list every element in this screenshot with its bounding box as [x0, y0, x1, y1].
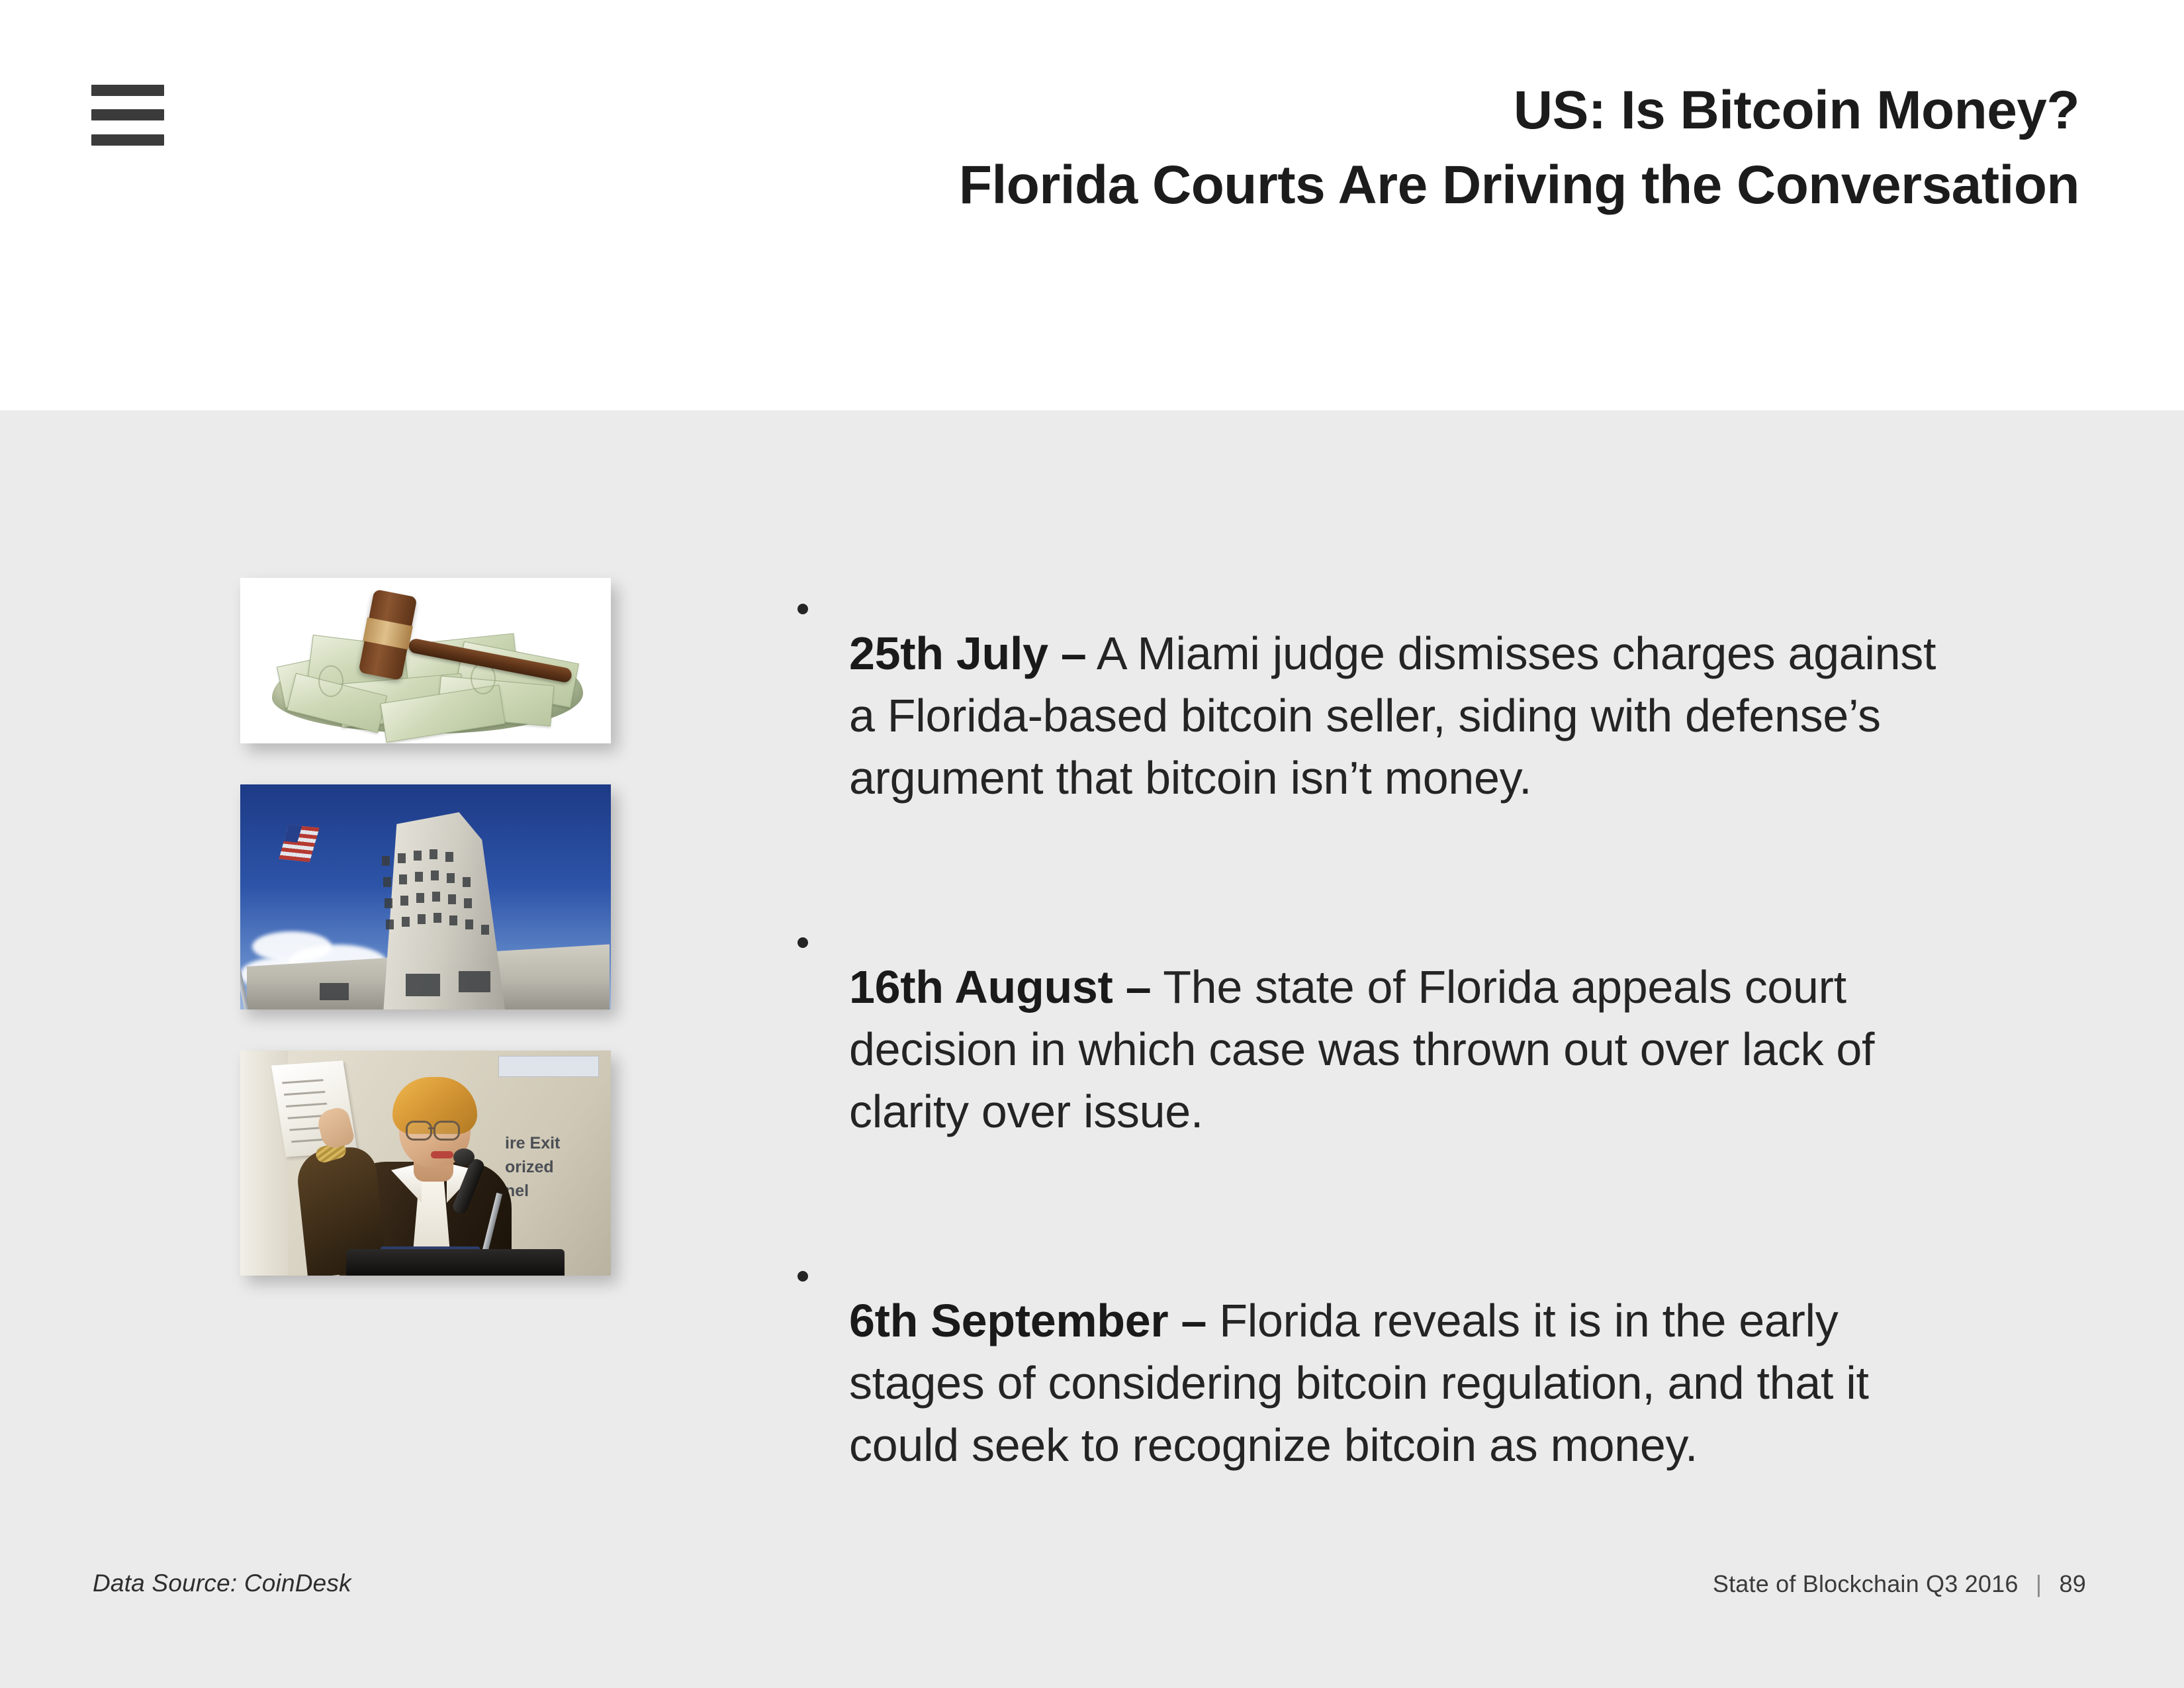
page-title-line-2: Florida Courts Are Driving the Conversat…: [623, 148, 2079, 222]
window: [382, 856, 390, 866]
eyeglass-bridge: [428, 1127, 435, 1129]
window: [398, 853, 406, 863]
american-flag: [279, 825, 319, 863]
window: [383, 877, 391, 887]
bullet-dot-icon: [797, 1271, 808, 1282]
bullet-text: 25th July – A Miami judge dismisses char…: [849, 622, 1962, 809]
lower-window: [459, 971, 490, 992]
official-at-podium-photo: ire Exit orized nel: [240, 1051, 611, 1276]
window: [447, 873, 455, 883]
image-column: ire Exit orized nel: [240, 578, 611, 1276]
list-item: 16th August – The state of Florida appea…: [797, 910, 1962, 1189]
window: [449, 915, 457, 925]
footer-report-info: State of Blockchain Q3 2016 | 89: [1713, 1569, 2086, 1599]
bullet-date-lead: 25th July –: [849, 628, 1087, 679]
timeline-bullet-list: 25th July – A Miami judge dismisses char…: [797, 576, 1962, 1523]
paper-line: [284, 1091, 326, 1096]
microphone-head: [453, 1149, 475, 1166]
window: [481, 925, 489, 935]
window: [415, 872, 423, 882]
footer-separator: |: [2036, 1569, 2042, 1599]
gavel-on-money-photo: [240, 578, 611, 743]
wall-sign-plate: [498, 1056, 599, 1077]
speaker-lips: [431, 1151, 453, 1158]
footer-report-title: State of Blockchain Q3 2016: [1713, 1570, 2019, 1597]
page-title-line-1: US: Is Bitcoin Money?: [623, 73, 2079, 148]
lower-window: [406, 974, 440, 996]
window: [445, 852, 453, 862]
hamburger-bar-top: [91, 85, 164, 96]
window: [385, 898, 392, 908]
bullet-text: 6th September – Florida reveals it is in…: [849, 1289, 1962, 1476]
wall-sign-line-1: ire Exit: [505, 1131, 604, 1155]
bullet-text: 16th August – The state of Florida appea…: [849, 956, 1962, 1143]
bullet-dot-icon: [797, 604, 808, 614]
list-item: 25th July – A Miami judge dismisses char…: [797, 576, 1962, 855]
lower-window: [320, 983, 349, 1000]
window: [465, 919, 473, 929]
bullet-date-lead: 16th August –: [849, 961, 1151, 1013]
hamburger-bar-bottom: [91, 134, 164, 146]
list-item: 6th September – Florida reveals it is in…: [797, 1243, 1962, 1523]
wall-sign-text: ire Exit orized nel: [505, 1131, 604, 1203]
podium: [346, 1249, 565, 1276]
paper-line: [286, 1103, 328, 1107]
slide-header: US: Is Bitcoin Money? Florida Courts Are…: [0, 0, 2184, 410]
window: [418, 914, 426, 924]
bullet-date-lead: 6th September –: [849, 1295, 1206, 1346]
window: [432, 892, 440, 902]
eyeglass-lens-left: [406, 1121, 432, 1141]
bullet-dot-icon: [797, 937, 808, 948]
window: [433, 913, 441, 923]
page-title: US: Is Bitcoin Money? Florida Courts Are…: [623, 73, 2079, 222]
window: [431, 870, 439, 880]
eyeglass-lens-right: [433, 1121, 460, 1141]
footer-data-source: Data Source: CoinDesk: [93, 1568, 351, 1599]
window: [463, 877, 471, 887]
wall-sign-line-3: nel: [505, 1179, 604, 1203]
window: [399, 874, 407, 884]
slide-root: US: Is Bitcoin Money? Florida Courts Are…: [0, 0, 2184, 1688]
window: [448, 894, 456, 904]
window: [400, 896, 408, 906]
window: [430, 849, 437, 859]
window: [416, 893, 424, 903]
window: [464, 898, 472, 908]
window: [402, 917, 410, 927]
paper-line: [282, 1079, 324, 1084]
slide-body: ire Exit orized nel: [0, 410, 2184, 1688]
window: [386, 919, 394, 929]
footer-page-number: 89: [2060, 1570, 2086, 1597]
window: [414, 851, 422, 861]
hamburger-bar-middle: [91, 109, 164, 120]
bill-portrait-oval: [318, 665, 343, 697]
wall-sign-line-2: orized: [505, 1155, 604, 1179]
miami-courthouse-photo: [240, 784, 611, 1009]
hamburger-menu-icon[interactable]: [91, 85, 164, 146]
